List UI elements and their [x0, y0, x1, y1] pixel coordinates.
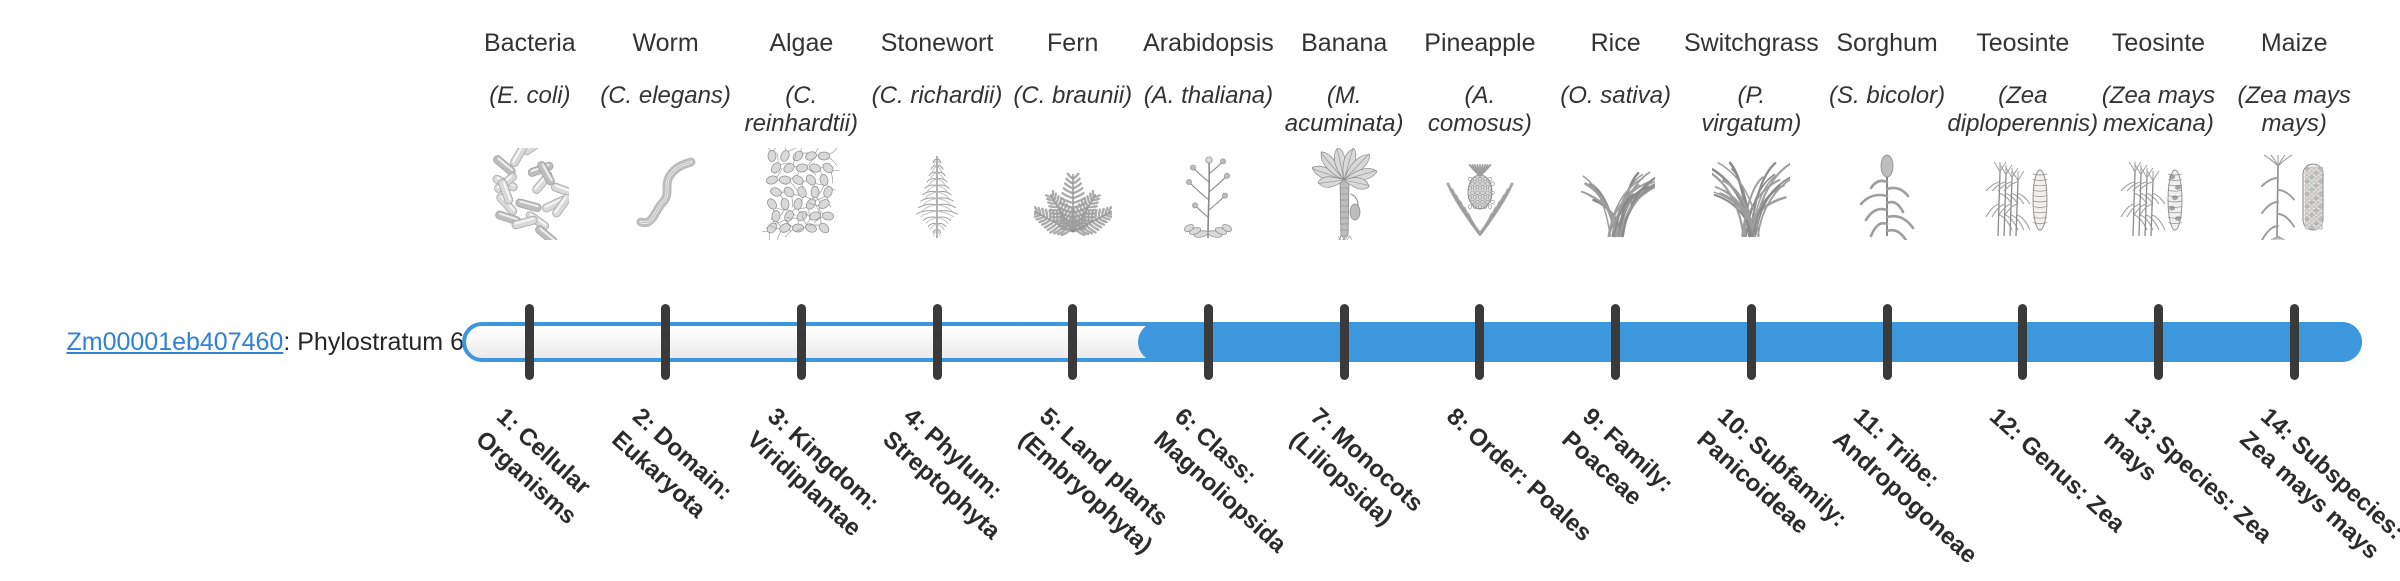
stage-rank: Cellular Organisms [471, 421, 596, 529]
phylostratum-figure: Zm00001eb407460: Phylostratum 6 Bacteria… [0, 0, 2400, 580]
stage-label-group: 1: Cellular Organisms2: Domain: Eukaryot… [0, 0, 2400, 580]
stage-number: 12: [1984, 403, 2028, 446]
stage-rank: Family: Poaceae [1556, 421, 1678, 510]
